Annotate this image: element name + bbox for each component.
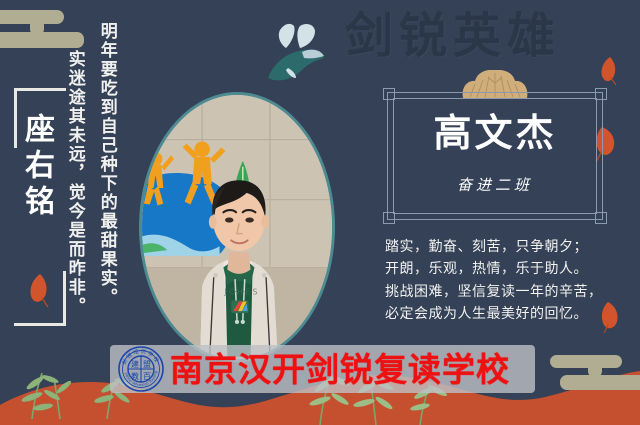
crane-icon — [258, 16, 336, 94]
student-description: 踏实，勤奋、刻苦，只争朝夕； 开朗，乐观，热情，乐于助人。 挑战困难，坚信复读一… — [385, 236, 620, 326]
leaf-top-right-icon — [600, 56, 620, 86]
student-class: 奋进二班 — [387, 174, 603, 195]
school-name: 南京汉开剑锐复读学校 — [170, 353, 510, 386]
motto-label-frame: 座右铭 — [14, 88, 66, 326]
student-photo-frame: J·C·H·E·S — [139, 92, 335, 362]
student-name-card: 高文杰 奋进二班 — [387, 92, 603, 220]
student-photo: J·C·H·E·S — [142, 95, 332, 357]
description-line-1: 踏实，勤奋、刻苦，只争朝夕； — [385, 236, 620, 258]
poster-title: 剑锐英雄 — [345, 12, 561, 60]
school-banner: 建 盟 教 百 剑 锐 培 优 学 校 Jianrui Advanced Tra… — [110, 345, 535, 393]
cloud-bottom-right-icon — [538, 355, 640, 395]
motto-line-1: 明年要吃到自己种下的最甜果实。 — [96, 22, 117, 352]
svg-text:教: 教 — [131, 371, 139, 381]
description-line-2: 开朗，乐观，热情，乐于助人。 — [385, 258, 620, 280]
description-line-4: 必定会成为人生最美好的回忆。 — [385, 303, 620, 325]
poster-canvas: 剑锐英雄 座右铭 明年要吃到自己种下的最甜果实。 实迷途其未远，觉今是而昨非。 — [0, 0, 640, 425]
school-seal-logo: 建 盟 教 百 剑 锐 培 优 学 校 Jianrui Advanced Tra… — [118, 346, 164, 392]
description-line-3: 挑战困难，坚信复读一年的辛苦， — [385, 281, 620, 303]
svg-text:建: 建 — [131, 359, 139, 369]
svg-text:盟: 盟 — [143, 360, 151, 369]
student-name: 高文杰 — [387, 114, 603, 152]
cloud-top-left-icon — [0, 10, 106, 52]
svg-text:J·C·H·E·S: J·C·H·E·S — [223, 288, 257, 297]
motto-label: 座右铭 — [21, 113, 51, 221]
motto-bracket-bottom — [14, 271, 66, 326]
motto-line-2: 实迷途其未远，觉今是而昨非。 — [64, 50, 85, 350]
